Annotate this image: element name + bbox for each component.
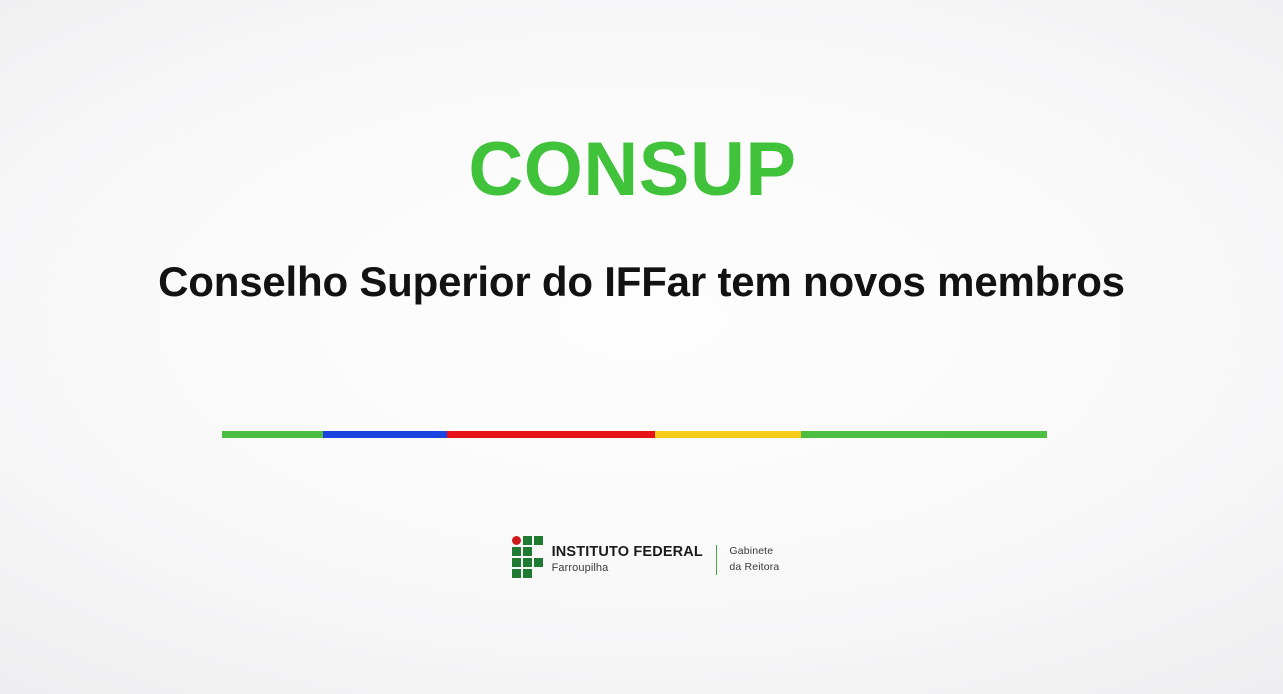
logo-unit-line-2: da Reitora — [729, 560, 779, 575]
logo-mark-square — [512, 547, 521, 556]
logo-unit-line-1: Gabinete — [729, 544, 779, 559]
logo-mark-square — [523, 536, 532, 545]
logo-mark-square — [512, 569, 521, 578]
institutional-logo: INSTITUTO FEDERAL Farroupilha Gabinete d… — [0, 536, 1283, 583]
logo-mark-square — [534, 536, 543, 545]
subtitle-block: Conselho Superior do IFFar tem novos mem… — [0, 260, 1283, 304]
iffar-grid-mark-icon — [512, 536, 543, 583]
logo-mark-square — [523, 569, 532, 578]
logo-divider-rule — [716, 545, 718, 575]
logo-inner: INSTITUTO FEDERAL Farroupilha Gabinete d… — [512, 536, 780, 583]
logo-wordmark: INSTITUTO FEDERAL Farroupilha — [552, 544, 703, 576]
logo-unit-block: Gabinete da Reitora — [729, 544, 779, 574]
divider-segment-yellow — [655, 431, 801, 438]
divider-segment-red — [447, 431, 655, 438]
logo-mark-square — [523, 558, 532, 567]
divider-segment-green-left — [222, 431, 323, 438]
divider-segment-green-right — [801, 431, 1047, 438]
page-title: CONSUP — [468, 132, 796, 208]
logo-mark-dot — [512, 536, 521, 545]
logo-mark-square — [512, 558, 521, 567]
title-block: CONSUP — [0, 132, 1283, 208]
page-subtitle: Conselho Superior do IFFar tem novos mem… — [158, 260, 1125, 304]
logo-secondary-label: Farroupilha — [552, 562, 703, 575]
logo-primary-label: INSTITUTO FEDERAL — [552, 544, 703, 561]
slide-canvas: CONSUP Conselho Superior do IFFar tem no… — [0, 0, 1283, 694]
logo-mark-square — [523, 547, 532, 556]
divider-segment-blue — [323, 431, 447, 438]
logo-mark-square — [534, 558, 543, 567]
color-divider-bar — [222, 431, 1047, 438]
